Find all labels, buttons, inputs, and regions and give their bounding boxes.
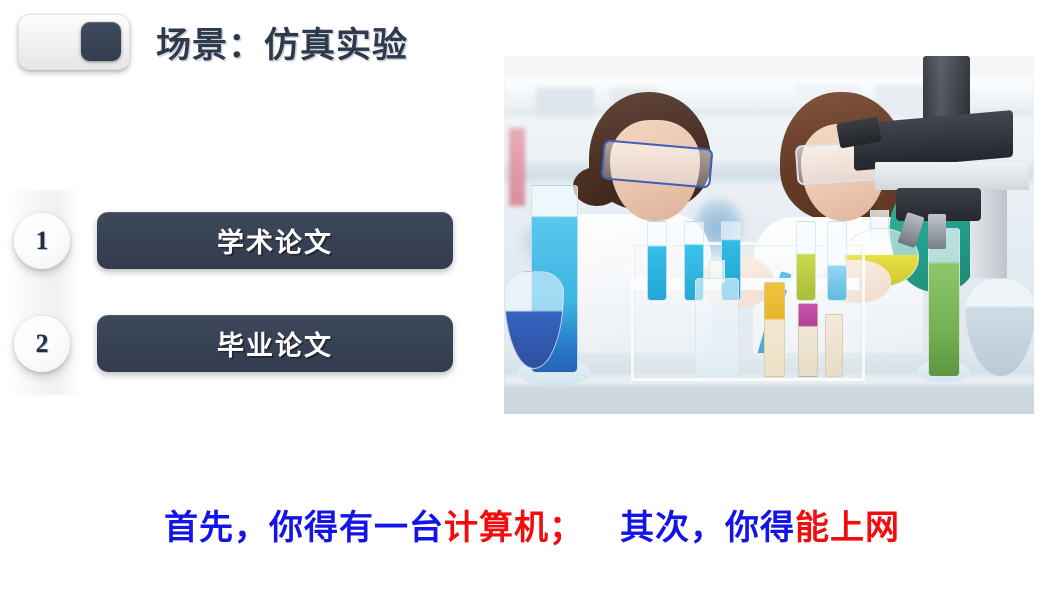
photo-overlay xyxy=(504,56,1034,414)
page-title: 场景：仿真实验 xyxy=(156,17,408,68)
list-item[interactable]: 2 毕业论文 xyxy=(14,315,453,372)
topic-button-academic-paper[interactable]: 学术论文 xyxy=(97,212,453,269)
caption-segment-1: 首先，你得有一台 xyxy=(164,509,444,547)
toggle-knob-icon xyxy=(81,22,121,61)
lab-scene-photo xyxy=(504,56,1034,414)
list-item[interactable]: 1 学术论文 xyxy=(14,212,453,269)
topic-button-graduation-thesis[interactable]: 毕业论文 xyxy=(97,315,453,372)
list-number-badge: 2 xyxy=(14,316,70,372)
list-number-badge: 1 xyxy=(14,213,70,269)
slide-header: 场景：仿真实验 xyxy=(18,14,408,70)
caption-segment-3: 其次，你得 xyxy=(620,509,795,547)
slide-canvas: 场景：仿真实验 1 学术论文 2 毕业论文 xyxy=(0,0,1064,605)
caption-text: 首先，你得有一台计算机；其次，你得能上网 xyxy=(0,500,1064,549)
caption-segment-2: 计算机； xyxy=(444,509,584,547)
scene-toggle[interactable] xyxy=(18,14,130,70)
caption-segment-4: 能上网 xyxy=(795,509,900,547)
